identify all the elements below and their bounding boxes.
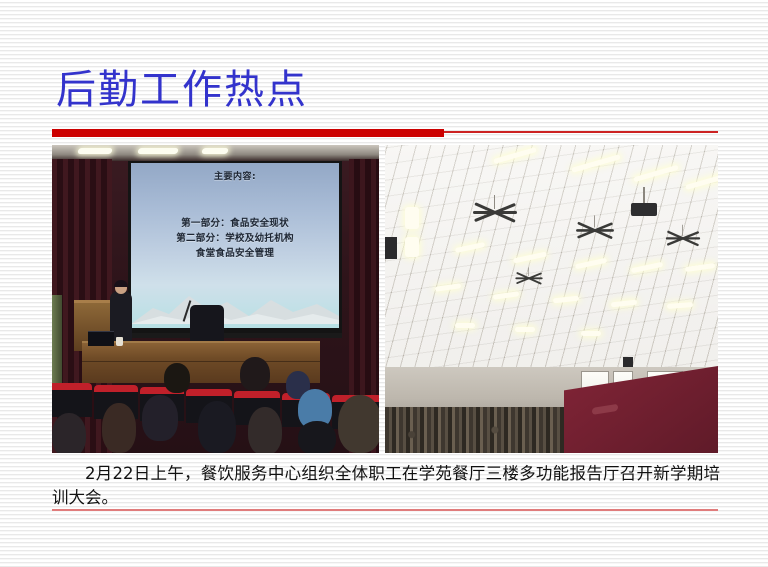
audience-head bbox=[248, 407, 282, 453]
title-rule-thick bbox=[52, 129, 444, 137]
projected-slide-line-2: 第二部分：学校及幼托机构 bbox=[131, 231, 339, 246]
fan-rod bbox=[494, 195, 495, 209]
fan-rod bbox=[682, 225, 683, 236]
audience-head bbox=[338, 395, 379, 453]
audience-head bbox=[298, 421, 336, 453]
caption-rule bbox=[52, 509, 718, 511]
ceiling-light-icon bbox=[455, 323, 475, 328]
audience-seat bbox=[52, 383, 92, 417]
slide-canvas: 后勤工作热点 主要内容: 第一部分：食品安全现状 第二部分：学校及幼托机构 食堂… bbox=[0, 0, 768, 567]
ceiling-fan-icon bbox=[666, 234, 700, 242]
carpet-marking bbox=[592, 404, 618, 415]
ceiling-light-icon bbox=[405, 207, 419, 229]
projected-slide-heading: 主要内容: bbox=[131, 169, 339, 182]
slide-caption: 2月22日上午，餐饮服务中心组织全体职工在学苑餐厅三楼多功能报告厅召开新学期培训… bbox=[52, 462, 720, 510]
ceiling-fan-icon bbox=[473, 207, 517, 217]
ceiling-lamp-icon bbox=[137, 148, 178, 154]
ceiling-light-icon bbox=[515, 327, 535, 332]
laptop bbox=[88, 331, 114, 346]
audience-head bbox=[142, 395, 178, 441]
fan-rod bbox=[594, 215, 595, 227]
projected-slide-line-1: 第一部分：食品安全现状 bbox=[131, 216, 339, 231]
audience-head bbox=[102, 403, 136, 453]
projector-rod bbox=[643, 187, 645, 203]
ceiling-fan-icon bbox=[576, 226, 614, 235]
audience-head bbox=[164, 363, 190, 393]
audience-head bbox=[52, 413, 86, 453]
seat-back-red bbox=[234, 391, 280, 398]
audience-head bbox=[240, 357, 270, 391]
title-rule-thin bbox=[444, 131, 718, 133]
ceiling-lamp-icon bbox=[201, 148, 228, 154]
page-title: 后勤工作热点 bbox=[56, 66, 308, 114]
projection-screen-surface: 主要内容: 第一部分：食品安全现状 第二部分：学校及幼托机构 食堂食品安全管理 bbox=[131, 163, 339, 328]
ceiling-light-icon bbox=[581, 331, 601, 336]
wall-speaker bbox=[385, 237, 397, 259]
tiled-ceiling bbox=[385, 145, 718, 374]
projected-slide-text: 主要内容: 第一部分：食品安全现状 第二部分：学校及幼托机构 食堂食品安全管理 bbox=[131, 169, 339, 261]
ceiling-lamp-icon bbox=[77, 148, 112, 154]
audience-head bbox=[198, 401, 236, 453]
fan-rod bbox=[528, 267, 529, 276]
seat-back-red bbox=[52, 383, 92, 390]
seat-back-red bbox=[186, 389, 232, 396]
cup bbox=[116, 337, 123, 346]
ceiling-projector-icon bbox=[631, 203, 657, 216]
ceiling-light-icon bbox=[405, 237, 419, 257]
seat-back-red bbox=[94, 385, 138, 392]
slide-mountain-graphic bbox=[131, 286, 339, 324]
speaker-hair bbox=[114, 280, 128, 287]
photo-auditorium-with-projection-screen: 主要内容: 第一部分：食品安全现状 第二部分：学校及幼托机构 食堂食品安全管理 bbox=[52, 145, 379, 453]
projection-screen: 主要内容: 第一部分：食品安全现状 第二部分：学校及幼托机构 食堂食品安全管理 bbox=[128, 161, 342, 338]
stage-table bbox=[82, 341, 320, 383]
photo-large-hall-audience bbox=[385, 145, 718, 453]
projected-slide-line-3: 食堂食品安全管理 bbox=[131, 246, 339, 261]
ceiling-fan-icon bbox=[515, 275, 542, 281]
